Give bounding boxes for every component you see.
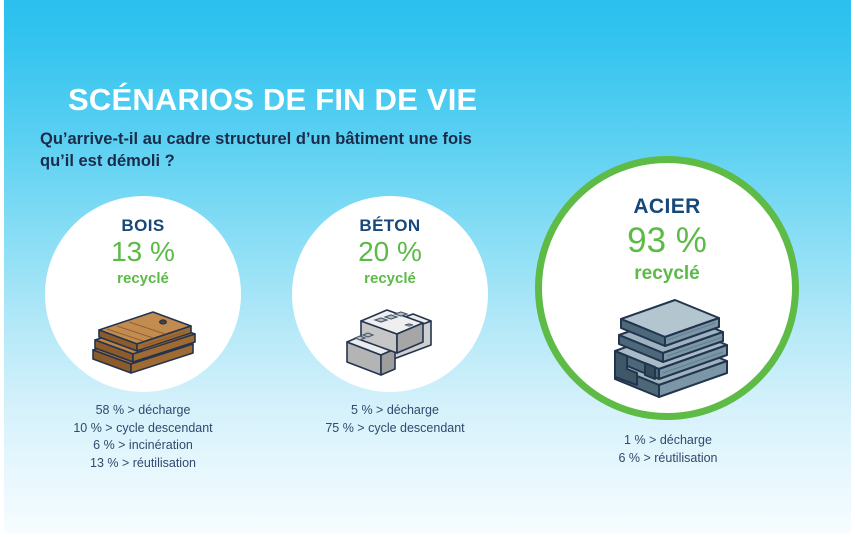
wood-planks-icon [85, 304, 201, 376]
material-percent-bois: 13 % [45, 236, 241, 268]
page-subtitle: Qu’arrive-t-il au cadre structurel d’un … [40, 128, 510, 173]
material-name-bois: BOIS [45, 216, 241, 236]
material-card-beton[interactable]: BÉTON 20 % recyclé [292, 196, 488, 392]
infographic-poster: SCÉNARIOS DE FIN DE VIE Qu’arrive-t-il a… [0, 0, 855, 537]
page-title: SCÉNARIOS DE FIN DE VIE [68, 84, 477, 117]
material-name-beton: BÉTON [292, 216, 488, 236]
detail-line: 6 % > réutilisation [578, 450, 758, 468]
material-card-bois[interactable]: BOIS 13 % recyclé [45, 196, 241, 392]
material-percent-beton: 20 % [292, 236, 488, 268]
detail-line: 13 % > réutilisation [63, 455, 223, 473]
material-details-bois: 58 % > décharge 10 % > cycle descendant … [63, 402, 223, 472]
material-recycled-label-bois: recyclé [45, 270, 241, 287]
detail-line: 10 % > cycle descendant [63, 420, 223, 438]
material-card-acier[interactable]: ACIER 93 % recyclé [535, 156, 799, 420]
detail-line: 58 % > décharge [63, 402, 223, 420]
concrete-blocks-icon [335, 298, 445, 376]
concrete-blocks-icon-wrap [292, 296, 488, 376]
detail-line: 75 % > cycle descendant [305, 420, 485, 438]
detail-line: 5 % > décharge [305, 402, 485, 420]
material-percent-acier: 93 % [542, 221, 792, 261]
material-details-acier: 1 % > décharge 6 % > réutilisation [578, 432, 758, 467]
detail-line: 1 % > décharge [578, 432, 758, 450]
steel-beams-icon-wrap [542, 291, 792, 399]
detail-line: 6 % > incinération [63, 437, 223, 455]
wood-planks-icon-wrap [45, 296, 241, 376]
material-recycled-label-acier: recyclé [542, 263, 792, 285]
material-details-beton: 5 % > décharge 75 % > cycle descendant [305, 402, 485, 437]
steel-beams-icon [597, 293, 737, 399]
material-recycled-label-beton: recyclé [292, 270, 488, 287]
material-name-acier: ACIER [542, 195, 792, 219]
